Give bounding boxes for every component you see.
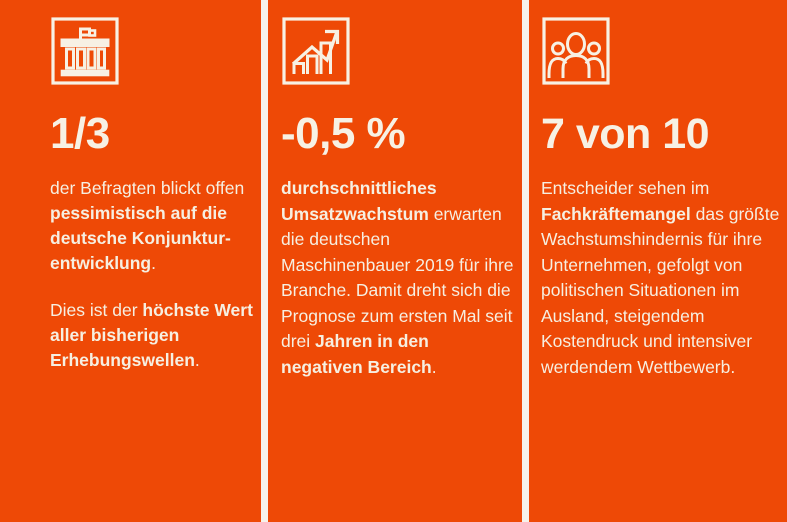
panel-1-paragraph-2: Dies ist der höchste Wert aller bisherig… bbox=[50, 298, 253, 373]
panel-2-headline: -0,5 % bbox=[281, 110, 514, 158]
stat-panel-2: -0,5 % durchschnittliches Umsatzwachstum… bbox=[268, 0, 522, 522]
growth-chart-icon bbox=[281, 16, 514, 88]
panel-3-paragraph-1: Entscheider sehen im Fachkräftemangel da… bbox=[541, 176, 781, 380]
panel-1-paragraph-1: der Befragten blickt offen pessimistisch… bbox=[50, 176, 253, 276]
stat-panel-1: 1/3 der Befragten blickt offen pessimist… bbox=[0, 0, 261, 522]
panel-1-headline: 1/3 bbox=[50, 110, 253, 158]
three-people-icon bbox=[541, 16, 781, 88]
panel-3-headline: 7 von 10 bbox=[541, 110, 781, 158]
brandenburg-gate-icon bbox=[50, 16, 253, 88]
stat-panel-3: 7 von 10 Entscheider sehen im Fachkräfte… bbox=[529, 0, 787, 522]
infographic-root: 1/3 der Befragten blickt offen pessimist… bbox=[0, 0, 787, 522]
panel-2-paragraph-1: durchschnittliches Umsatzwachstum erwart… bbox=[281, 176, 514, 380]
